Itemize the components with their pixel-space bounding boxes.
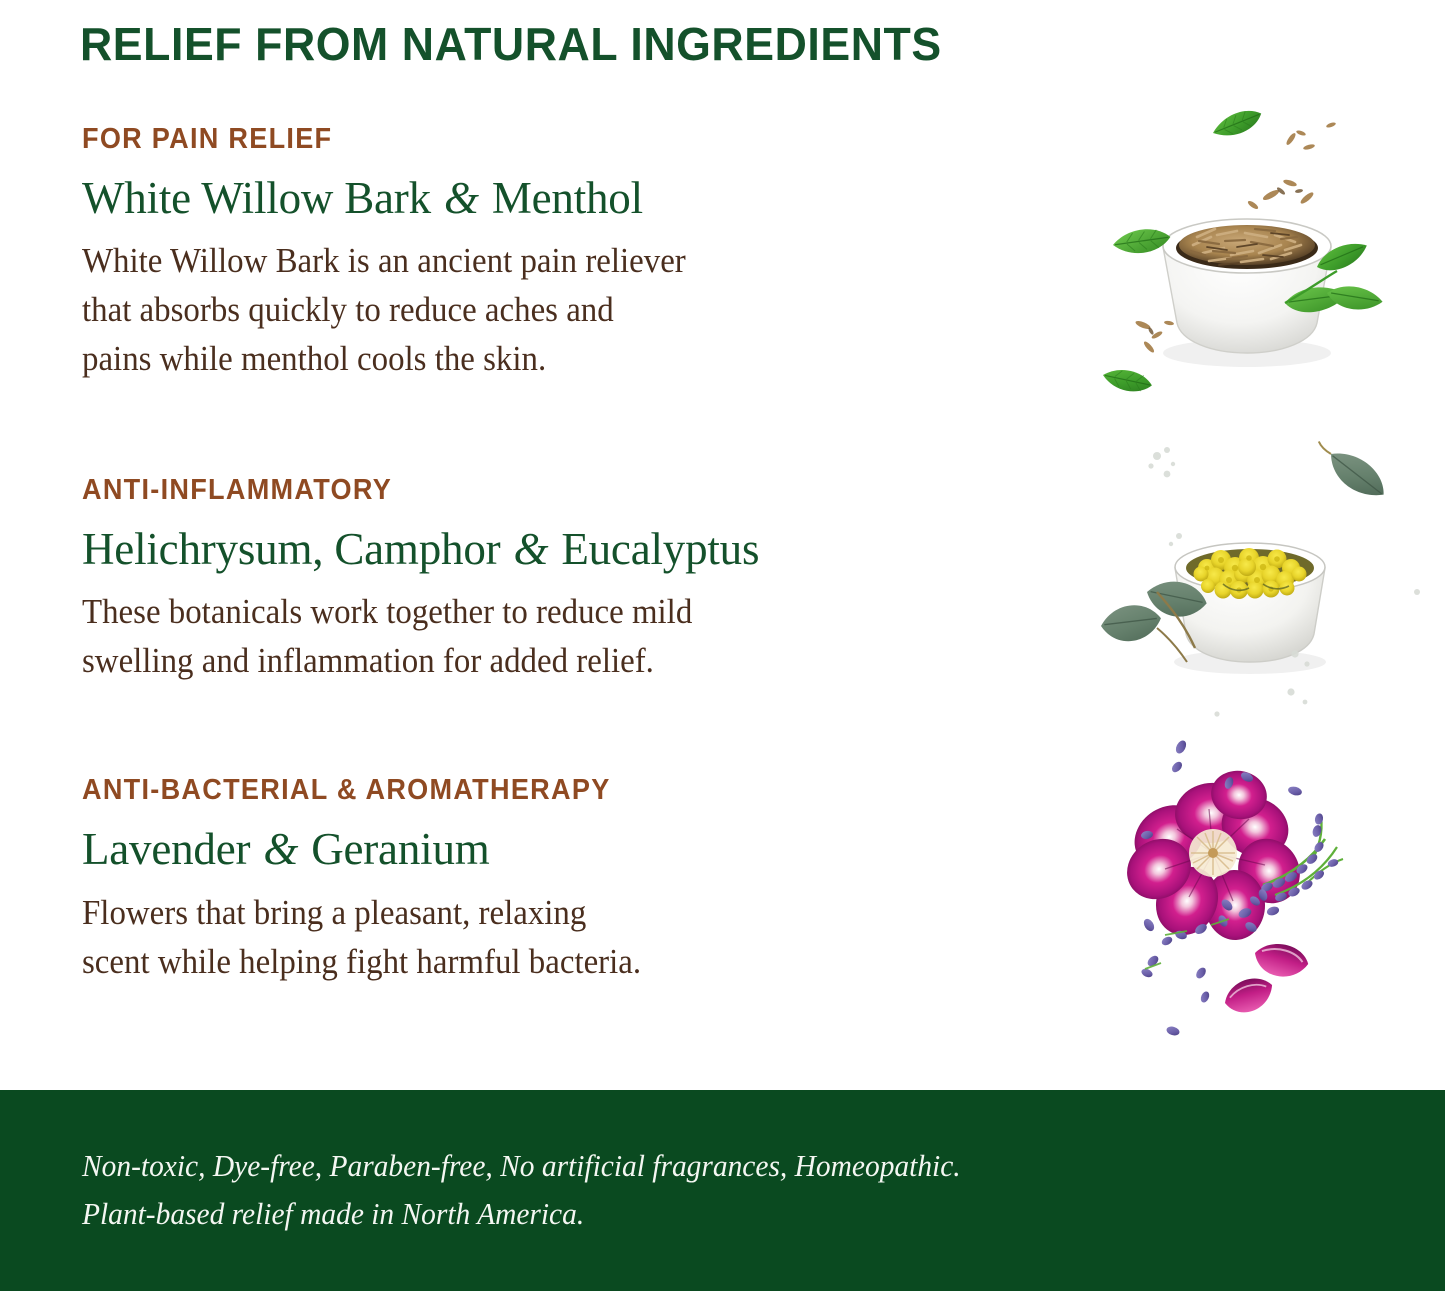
- ingredient-label: ANTI-INFLAMMATORY: [82, 475, 994, 507]
- ampersand-glyph: &: [442, 173, 481, 223]
- ampersand-glyph: &: [511, 524, 550, 574]
- description-line: pains while menthol cools the skin.: [82, 334, 984, 383]
- ingredient-title-part-1: Lavender: [82, 824, 261, 874]
- ingredient-label: FOR PAIN RELIEF: [82, 124, 994, 156]
- infographic-page: RELIEF FROM NATURAL INGREDIENTS FOR PAIN…: [0, 0, 1445, 1291]
- description-line: Flowers that bring a pleasant, relaxing: [82, 888, 984, 937]
- description-line: These botanicals work together to reduce…: [82, 587, 984, 636]
- footer-line: Plant-based relief made in North America…: [82, 1190, 961, 1238]
- description-line: scent while helping fight harmful bacter…: [82, 937, 984, 986]
- helichrysum-bowl-image: [1095, 440, 1445, 740]
- ingredient-description: These botanicals work together to reduce…: [82, 587, 984, 685]
- ingredient-title: Helichrysum, Camphor & Eucalyptus: [82, 524, 1042, 575]
- ampersand-glyph: &: [261, 824, 300, 874]
- ingredient-title-part-1: White Willow Bark: [82, 173, 442, 223]
- willow-bark-bowl-image: [1085, 95, 1445, 440]
- ingredient-title: Lavender & Geranium: [82, 824, 1042, 875]
- ingredient-title: White Willow Bark & Menthol: [82, 173, 1042, 224]
- ingredient-title-part-2: Eucalyptus: [550, 524, 759, 574]
- ingredient-title-part-2: Geranium: [300, 824, 489, 874]
- ingredient-title-part-1: Helichrysum, Camphor: [82, 524, 511, 574]
- ingredient-block-pain-relief: FOR PAIN RELIEF White Willow Bark & Ment…: [82, 124, 1042, 383]
- ingredient-title-part-2: Menthol: [481, 173, 643, 223]
- footer-claims: Non-toxic, Dye-free, Paraben-free, No ar…: [82, 1142, 961, 1238]
- ingredient-block-anti-bacterial: ANTI-BACTERIAL & AROMATHERAPY Lavender &…: [82, 775, 1042, 985]
- ingredients-list: FOR PAIN RELIEF White Willow Bark & Ment…: [82, 124, 1042, 986]
- description-line: White Willow Bark is an ancient pain rel…: [82, 236, 984, 285]
- ingredient-label: ANTI-BACTERIAL & AROMATHERAPY: [82, 775, 994, 807]
- ingredient-block-anti-inflammatory: ANTI-INFLAMMATORY Helichrysum, Camphor &…: [82, 475, 1042, 685]
- geranium-lavender-image: [1105, 735, 1445, 1070]
- ingredient-description: White Willow Bark is an ancient pain rel…: [82, 236, 984, 383]
- description-line: swelling and inflammation for added reli…: [82, 636, 984, 685]
- footer-band: Non-toxic, Dye-free, Paraben-free, No ar…: [0, 1090, 1445, 1291]
- ingredient-description: Flowers that bring a pleasant, relaxing …: [82, 888, 984, 986]
- footer-line: Non-toxic, Dye-free, Paraben-free, No ar…: [82, 1142, 961, 1190]
- page-title: RELIEF FROM NATURAL INGREDIENTS: [80, 17, 942, 71]
- description-line: that absorbs quickly to reduce aches and: [82, 285, 984, 334]
